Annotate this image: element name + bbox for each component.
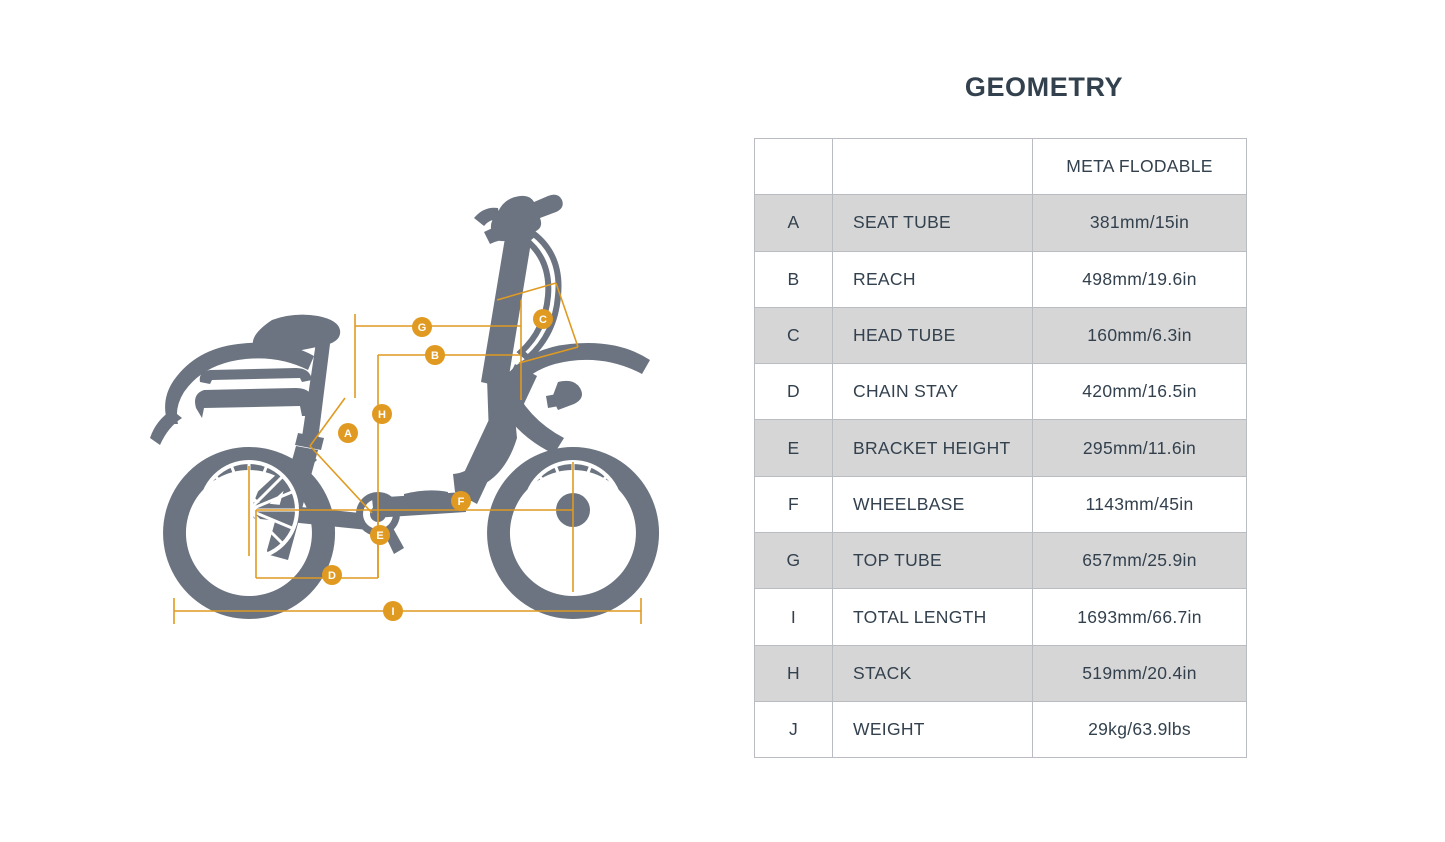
marker-G-label: G <box>418 322 427 334</box>
marker-H-label: H <box>378 409 386 421</box>
marker-E: E <box>370 525 390 545</box>
row-letter: G <box>755 533 833 589</box>
row-measurement-name: REACH <box>833 251 1033 307</box>
table-row: EBRACKET HEIGHT295mm/11.6in <box>755 420 1247 476</box>
row-measurement-name: WHEELBASE <box>833 476 1033 532</box>
row-measurement-name: SEAT TUBE <box>833 195 1033 251</box>
row-measurement-name: CHAIN STAY <box>833 364 1033 420</box>
row-measurement-value: 160mm/6.3in <box>1033 307 1247 363</box>
row-letter: D <box>755 364 833 420</box>
header-name-blank <box>833 139 1033 195</box>
row-letter: I <box>755 589 833 645</box>
header-letter-blank <box>755 139 833 195</box>
row-measurement-name: WEIGHT <box>833 701 1033 757</box>
row-letter: C <box>755 307 833 363</box>
marker-F: F <box>451 491 471 511</box>
marker-H: H <box>372 404 392 424</box>
marker-B: B <box>425 345 445 365</box>
row-measurement-value: 381mm/15in <box>1033 195 1247 251</box>
table-row: BREACH498mm/19.6in <box>755 251 1247 307</box>
row-letter: A <box>755 195 833 251</box>
row-measurement-value: 1143mm/45in <box>1033 476 1247 532</box>
row-measurement-name: TOTAL LENGTH <box>833 589 1033 645</box>
geometry-table-panel: GEOMETRY META FLODABLE ASEAT TUBE381mm/1… <box>724 0 1445 842</box>
table-row: JWEIGHT29kg/63.9lbs <box>755 701 1247 757</box>
marker-I-label: I <box>391 606 394 618</box>
table-row: ASEAT TUBE381mm/15in <box>755 195 1247 251</box>
row-measurement-value: 420mm/16.5in <box>1033 364 1247 420</box>
row-measurement-value: 295mm/11.6in <box>1033 420 1247 476</box>
row-letter: H <box>755 645 833 701</box>
row-measurement-name: BRACKET HEIGHT <box>833 420 1033 476</box>
row-measurement-name: HEAD TUBE <box>833 307 1033 363</box>
row-letter: E <box>755 420 833 476</box>
marker-E-label: E <box>376 530 383 542</box>
marker-I: I <box>383 601 403 621</box>
row-measurement-value: 29kg/63.9lbs <box>1033 701 1247 757</box>
row-measurement-value: 1693mm/66.7in <box>1033 589 1247 645</box>
table-header: META FLODABLE <box>755 139 1247 195</box>
table-row: ITOTAL LENGTH1693mm/66.7in <box>755 589 1247 645</box>
row-measurement-name: STACK <box>833 645 1033 701</box>
table-row: HSTACK519mm/20.4in <box>755 645 1247 701</box>
table-row: FWHEELBASE1143mm/45in <box>755 476 1247 532</box>
row-measurement-value: 519mm/20.4in <box>1033 645 1247 701</box>
marker-D-label: D <box>328 570 336 582</box>
marker-A-label: A <box>344 428 352 440</box>
page-title: GEOMETRY <box>724 72 1364 103</box>
row-measurement-value: 498mm/19.6in <box>1033 251 1247 307</box>
geometry-table: META FLODABLE ASEAT TUBE381mm/15inBREACH… <box>754 138 1247 758</box>
table-row: GTOP TUBE657mm/25.9in <box>755 533 1247 589</box>
row-letter: B <box>755 251 833 307</box>
marker-D: D <box>322 565 342 585</box>
row-letter: F <box>755 476 833 532</box>
row-letter: J <box>755 701 833 757</box>
marker-A: A <box>338 423 358 443</box>
table-row: DCHAIN STAY420mm/16.5in <box>755 364 1247 420</box>
marker-F-label: F <box>458 496 465 508</box>
bike-geometry-diagram: A B C D E <box>0 0 720 842</box>
header-model-name: META FLODABLE <box>1033 139 1247 195</box>
marker-C-label: C <box>539 314 547 326</box>
marker-B-label: B <box>431 350 439 362</box>
row-measurement-value: 657mm/25.9in <box>1033 533 1247 589</box>
bike-diagram-panel: A B C D E <box>0 0 720 842</box>
table-row: CHEAD TUBE160mm/6.3in <box>755 307 1247 363</box>
geometry-spec-page: A B C D E <box>0 0 1445 842</box>
marker-G: G <box>412 317 432 337</box>
marker-C: C <box>533 309 553 329</box>
table-header-row: META FLODABLE <box>755 139 1247 195</box>
row-measurement-name: TOP TUBE <box>833 533 1033 589</box>
table-body: ASEAT TUBE381mm/15inBREACH498mm/19.6inCH… <box>755 195 1247 758</box>
